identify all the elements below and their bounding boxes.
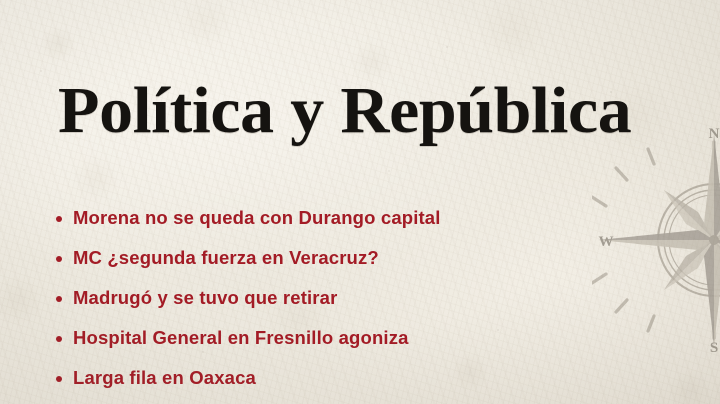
headline-text: Madrugó y se tuvo que retirar xyxy=(73,288,337,308)
headline-text: Larga fila en Oaxaca xyxy=(73,368,256,388)
bullet-dot-icon xyxy=(56,376,62,382)
news-headline-slide: N W S Política y República Morena no se … xyxy=(0,0,720,404)
list-item[interactable]: Morena no se queda con Durango capital xyxy=(56,198,616,238)
bullet-dot-icon xyxy=(56,296,62,302)
list-item[interactable]: Larga fila en Oaxaca xyxy=(56,358,616,398)
list-item[interactable]: MC ¿segunda fuerza en Veracruz? xyxy=(56,238,616,278)
headline-text: Morena no se queda con Durango capital xyxy=(73,208,441,228)
headline-text: MC ¿segunda fuerza en Veracruz? xyxy=(73,248,379,268)
list-item[interactable]: Hospital General en Fresnillo agoniza xyxy=(56,318,616,358)
bullet-dot-icon xyxy=(56,336,62,342)
bullet-dot-icon xyxy=(56,256,62,262)
headline-text: Hospital General en Fresnillo agoniza xyxy=(73,328,409,348)
list-item[interactable]: Madrugó y se tuvo que retirar xyxy=(56,278,616,318)
page-title: Política y República xyxy=(58,78,631,144)
headline-list: Morena no se queda con Durango capital M… xyxy=(56,198,616,398)
bullet-dot-icon xyxy=(56,216,62,222)
